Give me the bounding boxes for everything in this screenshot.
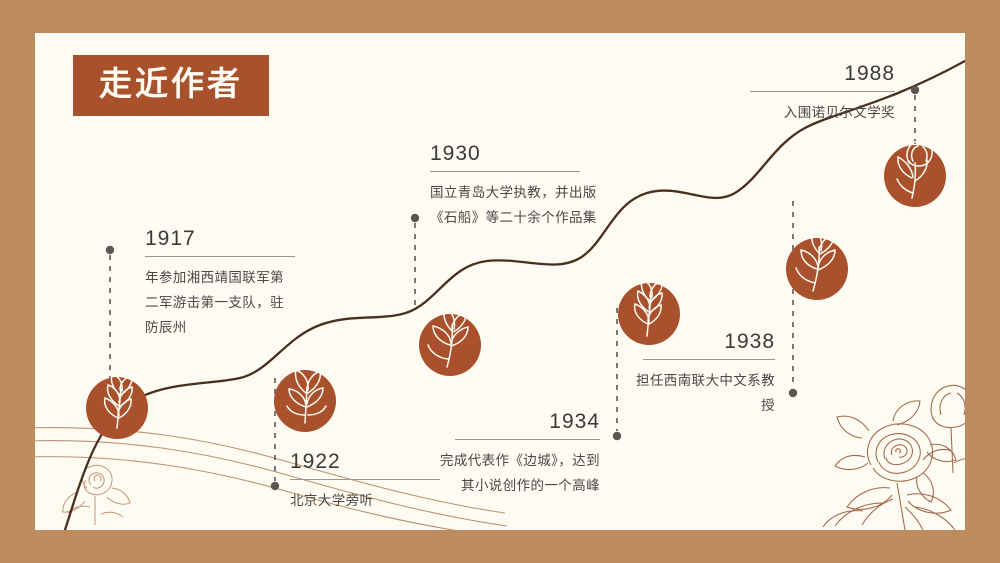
- slide-canvas: 走近作者 1917 年参加湘西靖国联军第二军游击第一支队，驻防辰州 1922 北…: [0, 0, 1000, 563]
- entry-description: 完成代表作《边城》，达到其小说创作的一个高峰: [435, 440, 600, 499]
- page-title: 走近作者: [99, 66, 243, 102]
- timeline-entry-1922[interactable]: 1922 北京大学旁听: [290, 451, 440, 514]
- entry-description: 北京大学旁听: [290, 480, 440, 514]
- entry-description: 担任西南联大中文系教授: [625, 360, 775, 419]
- node-1930: [419, 307, 481, 376]
- node-1922: [274, 370, 336, 432]
- entry-year: 1988: [735, 63, 895, 91]
- entry-description: 入围诺贝尔文学奖: [735, 92, 895, 126]
- node-1938: [786, 229, 848, 300]
- node-1917: [86, 374, 148, 439]
- timeline-entry-1930[interactable]: 1930 国立青岛大学执教，并出版《石船》等二十余个作品集: [430, 143, 605, 231]
- entry-year: 1938: [625, 331, 775, 359]
- node-1988: [884, 141, 946, 207]
- entry-description: 年参加湘西靖国联军第二军游击第一支队，驻防辰州: [145, 257, 295, 341]
- entry-description: 国立青岛大学执教，并出版《石船》等二十余个作品集: [430, 172, 605, 231]
- entry-year: 1934: [435, 411, 600, 439]
- entry-year: 1917: [145, 228, 295, 256]
- timeline-entry-1934[interactable]: 1934 完成代表作《边城》，达到其小说创作的一个高峰: [435, 411, 600, 499]
- entry-year: 1922: [290, 451, 440, 479]
- entry-year: 1930: [430, 143, 605, 171]
- timeline-entry-1917[interactable]: 1917 年参加湘西靖国联军第二军游击第一支队，驻防辰州: [145, 228, 295, 341]
- content-panel: 走近作者 1917 年参加湘西靖国联军第二军游击第一支队，驻防辰州 1922 北…: [35, 33, 965, 530]
- timeline-entry-1938[interactable]: 1938 担任西南联大中文系教授: [625, 331, 775, 419]
- timeline-entry-1988[interactable]: 1988 入围诺贝尔文学奖: [735, 63, 895, 126]
- page-title-block: 走近作者: [73, 55, 269, 116]
